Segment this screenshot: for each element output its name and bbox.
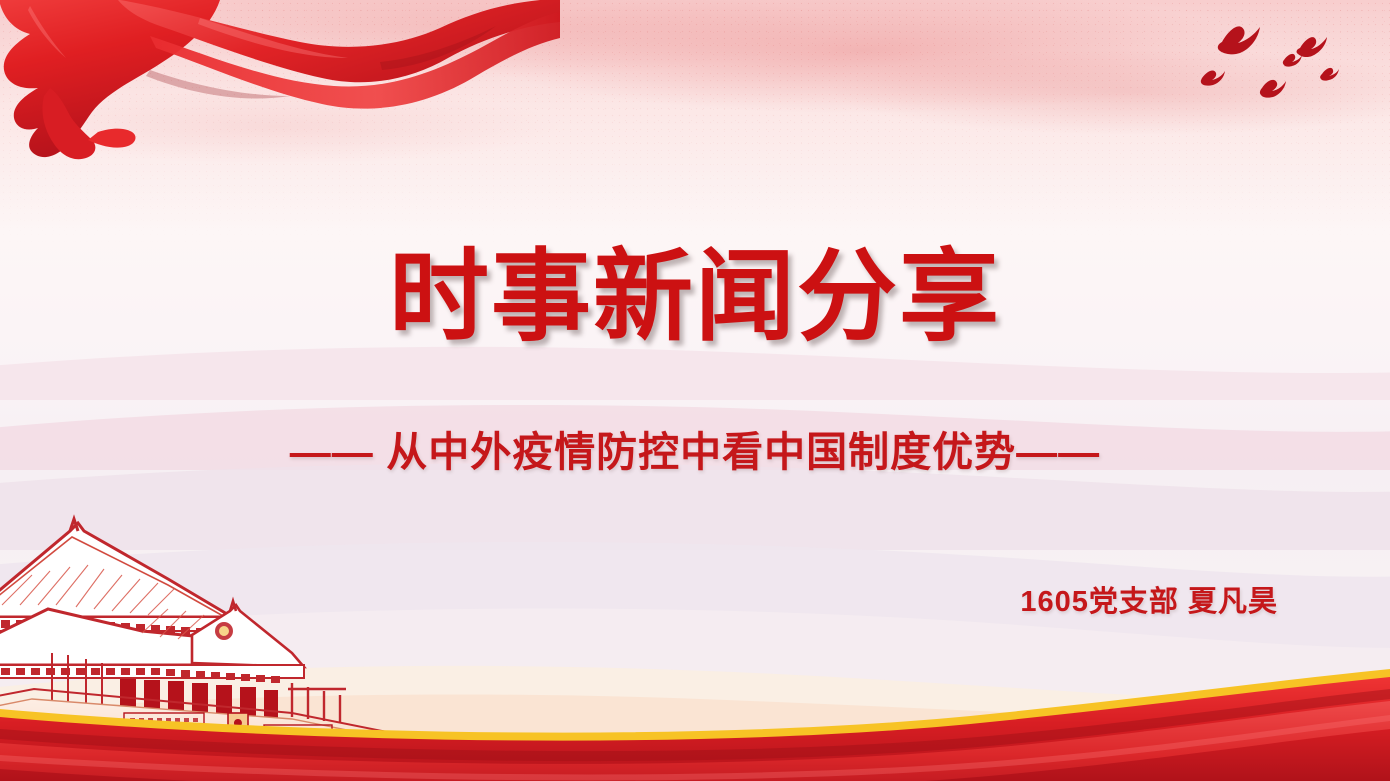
presentation-slide: 时事新闻分享 —— 从中外疫情防控中看中国制度优势—— 1605党支部 夏凡昊: [0, 0, 1390, 781]
slide-author: 1605党支部 夏凡昊: [1020, 578, 1278, 620]
slide-title: 时事新闻分享: [0, 215, 1390, 360]
bottom-red-ribbon-band: [0, 651, 1390, 781]
flying-birds-icon: [1192, 12, 1372, 132]
red-silk-ribbon-decoration: [0, 0, 560, 180]
slide-subtitle: —— 从中外疫情防控中看中国制度优势——: [0, 418, 1390, 478]
